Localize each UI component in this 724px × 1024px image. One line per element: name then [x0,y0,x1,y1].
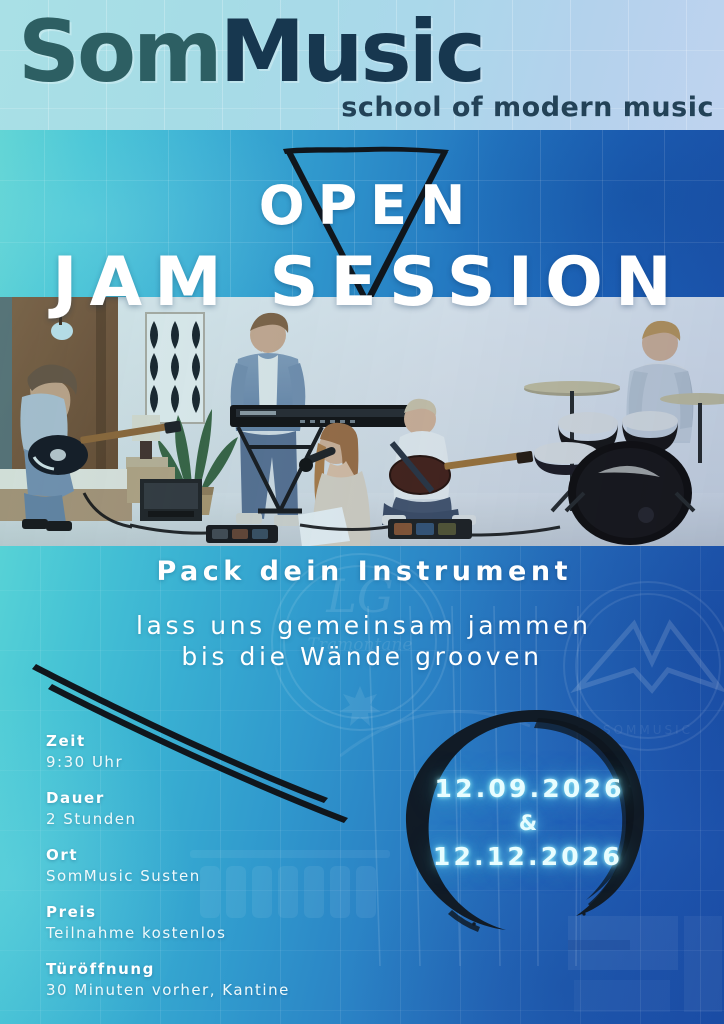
brand-name-part2: Music [220,2,483,102]
detail-row-tueroeffnung: Türöffnung 30 Minuten vorher, Kantine [46,959,376,1001]
detail-value-zeit: 9:30 Uhr [46,751,376,773]
event-date-first: 12.09.2026 [435,774,625,803]
event-date-separator: & [388,806,668,840]
photo-color-tint [0,297,724,546]
title-line-open: OPEN [0,178,724,234]
detail-value-tueroeffnung: 30 Minuten vorher, Kantine [46,979,376,1001]
detail-row-zeit: Zeit 9:30 Uhr [46,731,376,773]
band-photo [0,297,724,546]
tagline-subtext: lass uns gemeinsam jammenbis die Wände g… [0,610,724,672]
event-dates: 12.09.2026 & 12.12.2026 [388,772,668,874]
detail-label-dauer: Dauer [46,788,376,808]
detail-row-ort: Ort SomMusic Susten [46,845,376,887]
title-line-jam-session: JAM SESSION [0,248,724,318]
header-band: SomMusic school of modern music [0,0,724,130]
brand-name-part1: Som [18,2,220,102]
detail-value-dauer: 2 Stunden [46,808,376,830]
detail-label-zeit: Zeit [46,731,376,751]
detail-label-ort: Ort [46,845,376,865]
detail-value-ort: SomMusic Susten [46,865,376,887]
tagline-sub-line2: bis die Wände grooven [181,642,542,671]
detail-label-tueroeffnung: Türöffnung [46,959,376,979]
detail-row-preis: Preis Teilnahme kostenlos [46,902,376,944]
detail-row-dauer: Dauer 2 Stunden [46,788,376,830]
brand-logo-wordmark: SomMusic [18,8,718,96]
tagline-sub-line1: lass uns gemeinsam jammen [136,611,592,640]
brand-tagline: school of modern music [341,92,714,123]
brand-logo: SomMusic school of modern music [18,8,718,126]
event-date-second: 12.12.2026 [433,842,623,871]
detail-label-preis: Preis [46,902,376,922]
event-details-list: Zeit 9:30 Uhr Dauer 2 Stunden Ort SomMus… [46,731,376,1016]
poster: SomMusic school of modern music OPEN [0,0,724,1024]
detail-value-preis: Teilnahme kostenlos [46,922,376,944]
tagline-headline: Pack dein Instrument [0,556,724,587]
date-badge: 12.09.2026 & 12.12.2026 [388,700,668,950]
